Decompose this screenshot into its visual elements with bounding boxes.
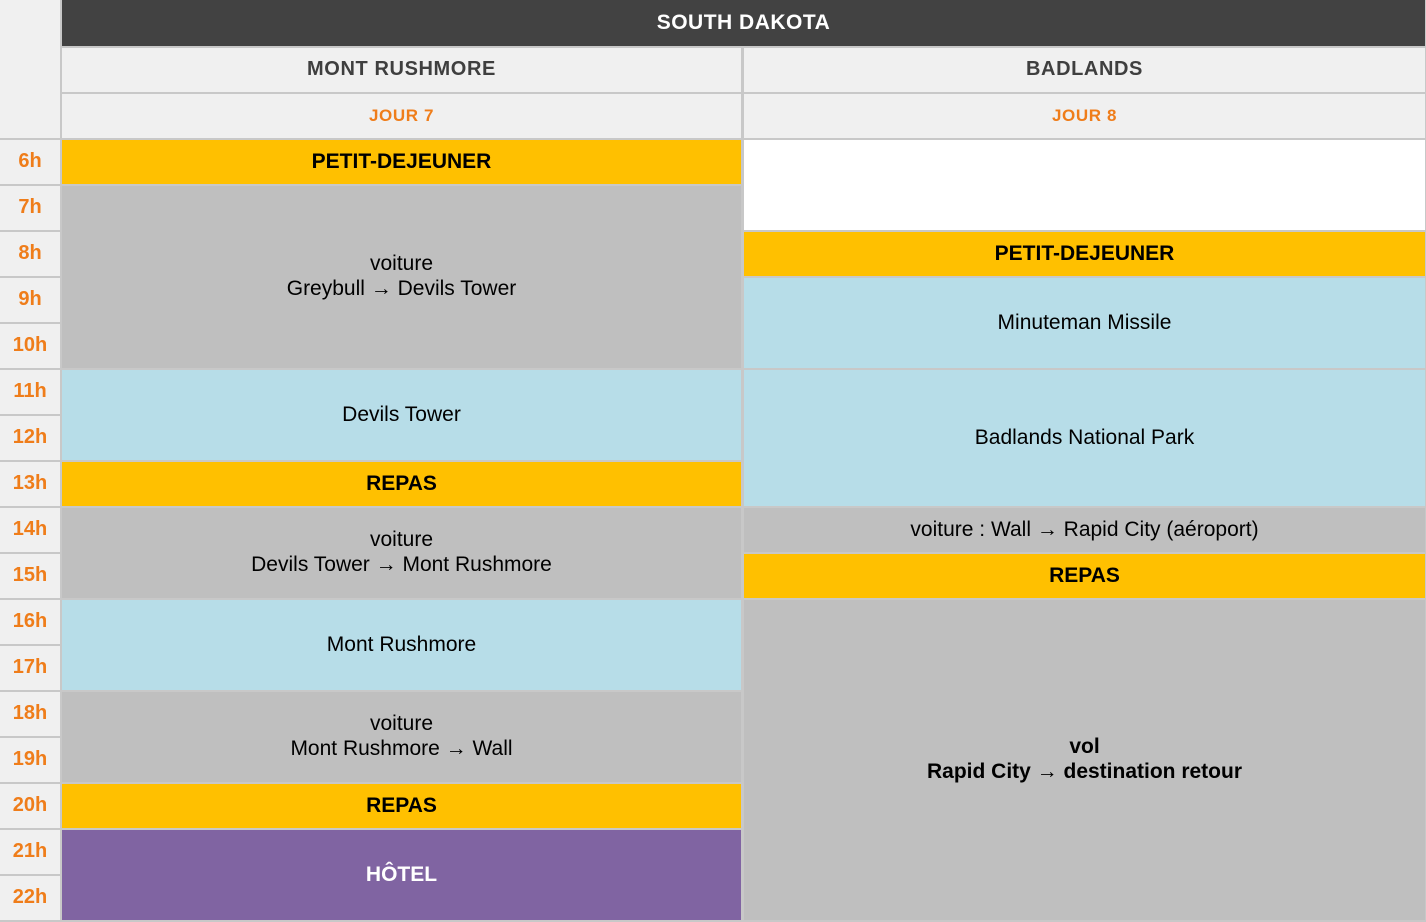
hour-label-17h: 17h: [0, 646, 60, 690]
activity-block-1-2-visit[interactable]: Minuteman Missile: [744, 278, 1425, 368]
hour-label-12h: 12h: [0, 416, 60, 460]
block-label: Badlands National Park: [967, 426, 1202, 451]
column-place-title-0: MONT RUSHMORE: [62, 48, 741, 92]
block-label: Minuteman Missile: [990, 311, 1180, 336]
block-label: Devils Tower: [334, 403, 469, 428]
hour-label-11h: 11h: [0, 370, 60, 414]
block-label: PETIT-DEJEUNER: [987, 242, 1183, 267]
hour-label-22h: 22h: [0, 876, 60, 920]
hour-label-19h: 19h: [0, 738, 60, 782]
hour-label-16h: 16h: [0, 600, 60, 644]
block-label: REPAS: [1041, 564, 1128, 589]
block-label: vol Rapid City → destination retour: [919, 735, 1250, 785]
activity-block-0-5-visit[interactable]: Mont Rushmore: [62, 600, 741, 690]
hour-label-20h: 20h: [0, 784, 60, 828]
column-day-title-1: JOUR 8: [744, 94, 1425, 138]
hour-label-13h: 13h: [0, 462, 60, 506]
hour-label-14h: 14h: [0, 508, 60, 552]
activity-block-0-2-visit[interactable]: Devils Tower: [62, 370, 741, 460]
hour-label-6h: 6h: [0, 140, 60, 184]
activity-block-1-0-empty: [744, 140, 1425, 230]
activity-block-0-7-meal[interactable]: REPAS: [62, 784, 741, 828]
block-label: Mont Rushmore: [319, 633, 484, 658]
activity-block-1-6-travel[interactable]: vol Rapid City → destination retour: [744, 600, 1425, 920]
block-label: REPAS: [358, 794, 445, 819]
hour-label-7h: 7h: [0, 186, 60, 230]
activity-block-0-1-travel[interactable]: voiture Greybull → Devils Tower: [62, 186, 741, 368]
hour-label-9h: 9h: [0, 278, 60, 322]
block-label: voiture Greybull → Devils Tower: [279, 252, 525, 302]
block-label: HÔTEL: [358, 863, 445, 888]
hour-label-21h: 21h: [0, 830, 60, 874]
column-day-title-0: JOUR 7: [62, 94, 741, 138]
hour-label-8h: 8h: [0, 232, 60, 276]
activity-block-1-4-travel[interactable]: voiture : Wall → Rapid City (aéroport): [744, 508, 1425, 552]
hour-label-15h: 15h: [0, 554, 60, 598]
block-label: voiture Devils Tower → Mont Rushmore: [243, 528, 560, 578]
travel-planner-table: SOUTH DAKOTAMONT RUSHMOREJOUR 7BADLANDSJ…: [0, 0, 1426, 922]
activity-block-1-5-meal[interactable]: REPAS: [744, 554, 1425, 598]
activity-block-0-6-travel[interactable]: voiture Mont Rushmore → Wall: [62, 692, 741, 782]
block-label: voiture Mont Rushmore → Wall: [282, 712, 520, 762]
block-label: REPAS: [358, 472, 445, 497]
block-label: voiture : Wall → Rapid City (aéroport): [902, 518, 1266, 543]
hour-label-10h: 10h: [0, 324, 60, 368]
corner-cell: [0, 0, 60, 138]
activity-block-1-1-meal[interactable]: PETIT-DEJEUNER: [744, 232, 1425, 276]
column-place-title-1: BADLANDS: [744, 48, 1425, 92]
activity-block-0-0-meal[interactable]: PETIT-DEJEUNER: [62, 140, 741, 184]
block-label: PETIT-DEJEUNER: [304, 150, 500, 175]
activity-block-1-3-visit[interactable]: Badlands National Park: [744, 370, 1425, 506]
activity-block-0-8-hotel[interactable]: HÔTEL: [62, 830, 741, 920]
activity-block-0-4-travel[interactable]: voiture Devils Tower → Mont Rushmore: [62, 508, 741, 598]
activity-block-0-3-meal[interactable]: REPAS: [62, 462, 741, 506]
region-title: SOUTH DAKOTA: [62, 0, 1425, 46]
hour-label-18h: 18h: [0, 692, 60, 736]
